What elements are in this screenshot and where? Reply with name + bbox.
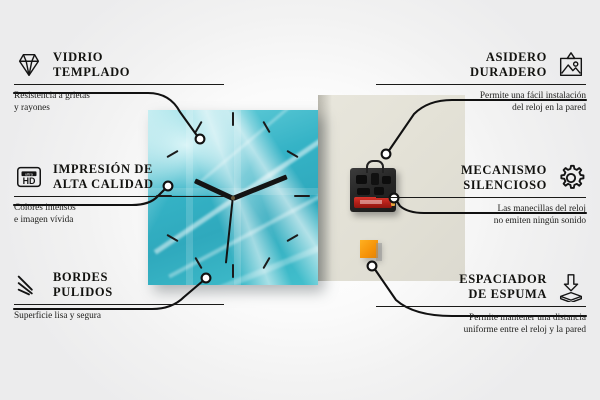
feature-title-line2: PULIDOS bbox=[53, 285, 113, 299]
clock-second-hand bbox=[225, 198, 233, 264]
feature-title-line1: VIDRIO bbox=[53, 50, 103, 64]
picture-frame-hanger-icon bbox=[556, 50, 586, 80]
infographic-canvas: VIDRIO TEMPLADO Resistencia a grietas y … bbox=[0, 0, 600, 400]
clock-tick bbox=[232, 264, 234, 278]
feature-title-line1: ESPACIADOR bbox=[459, 272, 547, 286]
feature-title-line1: BORDES bbox=[53, 270, 108, 284]
feature-impresion-alta-calidad: ultra HD IMPRESIÓN DE ALTA CALIDAD Color… bbox=[14, 162, 224, 226]
feature-desc-line1: Colores intensos bbox=[14, 203, 76, 213]
divider bbox=[14, 304, 224, 305]
feature-vidrio-templado: VIDRIO TEMPLADO Resistencia a grietas y … bbox=[14, 50, 224, 114]
feature-desc-line2: y rayones bbox=[14, 103, 50, 113]
feature-desc-line2: uniforme entre el reloj y la pared bbox=[464, 325, 586, 335]
divider bbox=[376, 306, 586, 307]
feature-desc-line1: Superficie lisa y segura bbox=[14, 311, 101, 321]
foam-spacer bbox=[360, 240, 378, 258]
feature-bordes-pulidos: BORDES PULIDOS Superficie lisa y segura bbox=[14, 270, 224, 322]
ultra-hd-big-text: HD bbox=[23, 176, 36, 186]
feature-desc-line1: Las manecillas del reloj bbox=[497, 204, 586, 214]
feature-desc-line2: del reloj en la pared bbox=[512, 103, 586, 113]
feature-desc-line1: Permite una fácil instalación bbox=[480, 91, 586, 101]
feature-desc-line1: Permite mantener una distancia bbox=[469, 313, 586, 323]
foam-spacer-arrow-icon bbox=[556, 272, 586, 302]
gear-icon bbox=[556, 163, 586, 193]
feature-title-line2: ALTA CALIDAD bbox=[53, 177, 154, 191]
feature-desc-line2: e imagen vívida bbox=[14, 215, 73, 225]
feature-asidero-duradero: ASIDERO DURADERO Permite una fácil insta… bbox=[376, 50, 586, 114]
diamond-icon bbox=[14, 50, 44, 80]
divider bbox=[14, 196, 224, 197]
feature-title-line2: DURADERO bbox=[470, 65, 547, 79]
feature-title-line2: DE ESPUMA bbox=[468, 287, 547, 301]
clock-tick bbox=[166, 150, 178, 158]
clock-tick bbox=[194, 121, 202, 133]
feature-title-line2: SILENCIOSO bbox=[463, 178, 547, 192]
divider bbox=[14, 84, 224, 85]
clock-tick bbox=[232, 112, 234, 126]
feature-espaciador-de-espuma: ESPACIADOR DE ESPUMA Permite mantener un… bbox=[376, 272, 586, 336]
feature-title-line1: MECANISMO bbox=[461, 163, 547, 177]
divider bbox=[376, 84, 586, 85]
feature-mecanismo-silencioso: MECANISMO SILENCIOSO Las manecillas del … bbox=[376, 163, 586, 227]
feature-title-line1: ASIDERO bbox=[486, 50, 547, 64]
feature-desc-line1: Resistencia a grietas bbox=[14, 91, 90, 101]
clock-tick bbox=[294, 195, 310, 197]
divider bbox=[376, 197, 586, 198]
feature-title-line2: TEMPLADO bbox=[53, 65, 130, 79]
feature-desc-line2: no emiten ningún sonido bbox=[494, 216, 586, 226]
ultra-hd-icon: ultra HD bbox=[14, 162, 44, 192]
feature-title-line1: IMPRESIÓN DE bbox=[53, 162, 153, 176]
clock-center-pin bbox=[231, 196, 235, 200]
clock-tick bbox=[286, 234, 298, 242]
polished-edges-icon bbox=[14, 270, 44, 300]
